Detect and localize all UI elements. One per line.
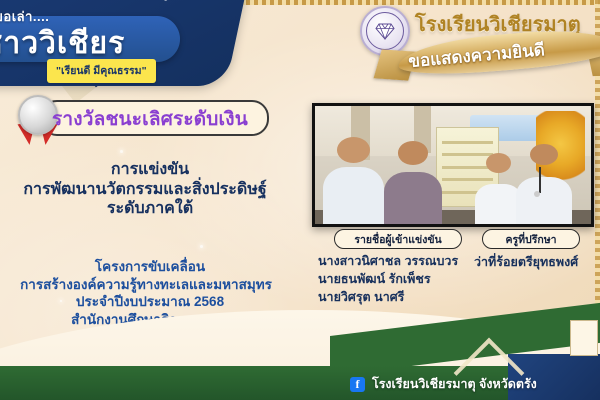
group-photo [312, 103, 594, 227]
award-label: รางวัลชนะเลิศระดับเงิน [52, 104, 267, 134]
school-motto: "เรียนดี มีคุณธรรม" [47, 59, 156, 83]
list-item: นางสาวนิศาชล วรรณบวร [318, 252, 478, 270]
advisor-name: ว่าที่ร้อยตรียุทธพงศ์ [474, 252, 600, 272]
top-gold-border [230, 0, 600, 5]
diamond-crest-icon [360, 6, 410, 56]
competition-line-2: การพัฒนานวัตกรรมและสิ่งประดิษฐ์ [0, 180, 300, 200]
facebook-icon: f [350, 377, 365, 392]
sparkle [200, 245, 203, 248]
competitors-pill: รายชื่อผู้เข้าแข่งขัน [334, 229, 462, 249]
competition-line-3: ระดับภาคใต้ [0, 199, 300, 219]
competition-title: การแข่งขัน การพัฒนานวัตกรรมและสิ่งประดิษ… [0, 160, 300, 219]
list-item: นายธนพัฒน์ รักเพ็ชร [318, 270, 478, 288]
advisor-pill: ครูที่ปรึกษา [482, 229, 580, 249]
project-line-1: โครงการขับเคลื่อน [0, 258, 300, 276]
bottom-right-card [570, 320, 598, 356]
competition-line-1: การแข่งขัน [0, 160, 300, 180]
sparkle [120, 150, 123, 153]
award-poster: ขอเล่า.... ชาววิเชียร "เรียนดี มีคุณธรรม… [0, 0, 600, 400]
